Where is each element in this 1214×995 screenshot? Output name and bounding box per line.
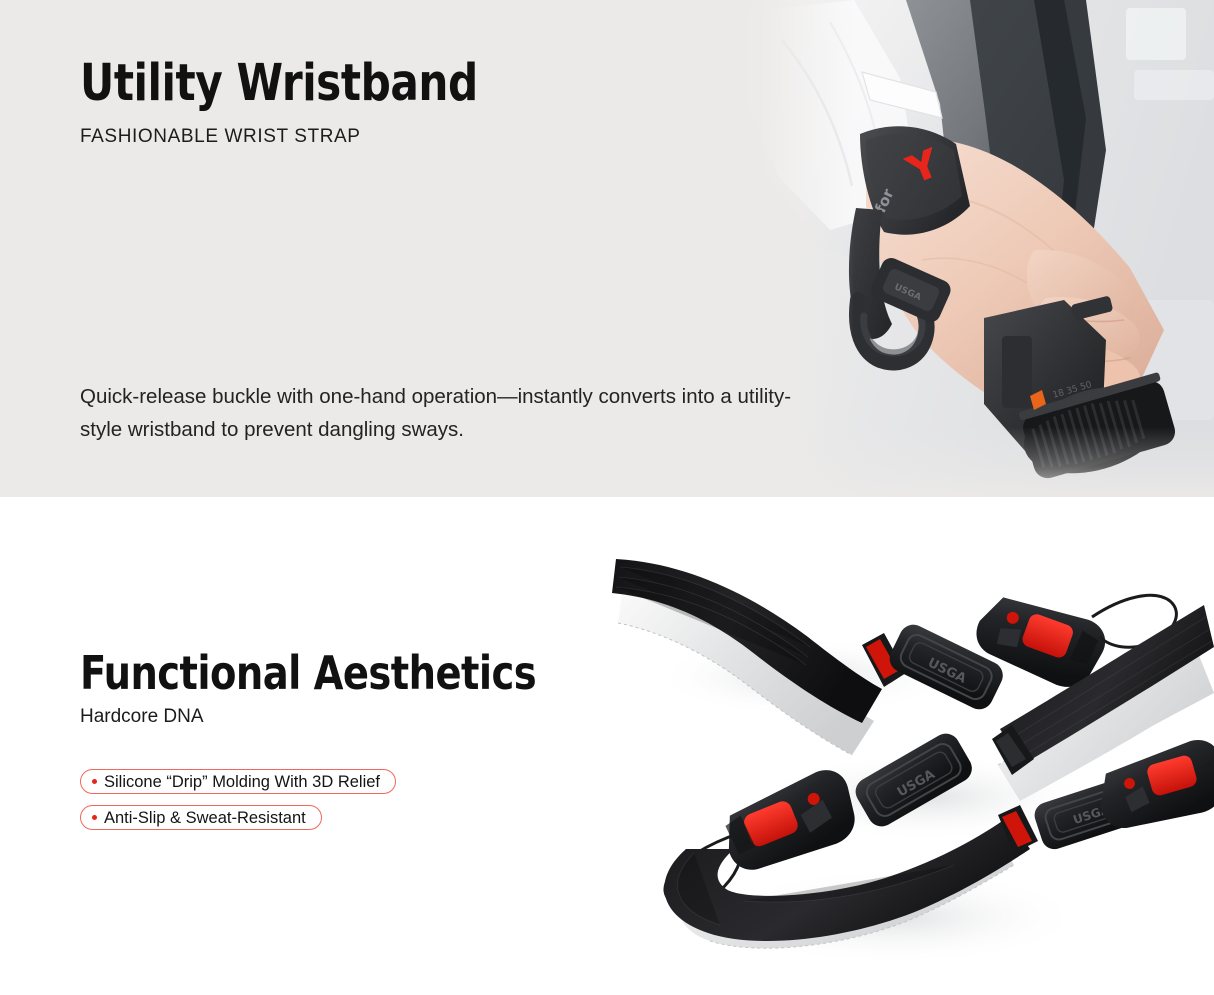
- section-title: Functional Aesthetics: [80, 647, 536, 699]
- feature-tag-label: Silicone “Drip” Molding With 3D Relief: [104, 773, 380, 791]
- top-section-copy: Utility Wristband FASHIONABLE WRIST STRA…: [80, 0, 800, 497]
- feature-tag-list: Silicone “Drip” Molding With 3D Relief A…: [80, 769, 396, 841]
- product-feature-page: for USGA: [0, 0, 1214, 995]
- section-utility-wristband: for USGA: [0, 0, 1214, 497]
- feature-tag-row: Silicone “Drip” Molding With 3D Relief: [80, 769, 396, 805]
- bottom-section-copy: Functional Aesthetics Hardcore DNA Silic…: [80, 497, 700, 995]
- feature-tag-silicone-drip[interactable]: Silicone “Drip” Molding With 3D Relief: [80, 769, 396, 794]
- page-subtitle: FASHIONABLE WRIST STRAP: [80, 125, 361, 149]
- feature-tag-row: Anti-Slip & Sweat-Resistant: [80, 805, 396, 841]
- bullet-dot-icon: [92, 779, 97, 784]
- section-functional-aesthetics: USGA: [0, 497, 1214, 995]
- bullet-dot-icon: [92, 815, 97, 820]
- feature-tag-anti-slip[interactable]: Anti-Slip & Sweat-Resistant: [80, 805, 322, 830]
- feature-tag-label: Anti-Slip & Sweat-Resistant: [104, 809, 306, 827]
- page-title: Utility Wristband: [80, 56, 478, 112]
- section-subtitle: Hardcore DNA: [80, 705, 204, 729]
- top-section-body-text: Quick-release buckle with one-hand opera…: [80, 380, 820, 446]
